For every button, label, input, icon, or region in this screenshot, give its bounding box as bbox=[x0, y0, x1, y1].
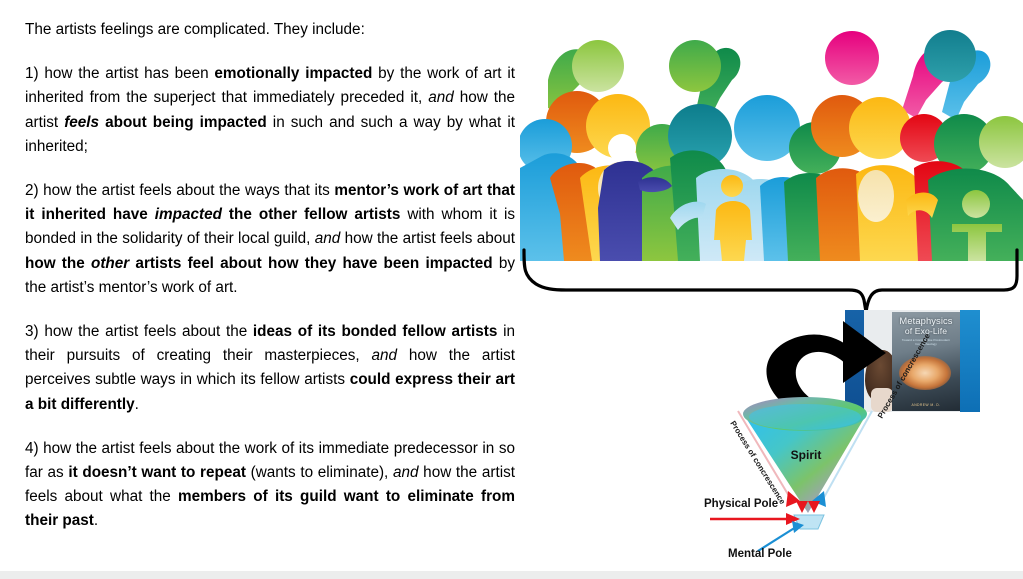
mental-pole-group: Mental Pole bbox=[728, 521, 804, 560]
figure-head bbox=[849, 97, 911, 159]
paragraph-2: 2) how the artist feels about the ways t… bbox=[25, 179, 515, 300]
figure-head bbox=[825, 31, 879, 85]
bottom-strip bbox=[0, 571, 1023, 579]
spirit-label: Spirit bbox=[791, 448, 822, 462]
figure-head bbox=[669, 40, 721, 92]
physical-pole-label: Physical Pole bbox=[704, 498, 778, 510]
right-process-label: Process of concrescence bbox=[876, 331, 932, 420]
figure-head bbox=[572, 40, 624, 92]
mental-pole-label: Mental Pole bbox=[728, 548, 792, 560]
crowd-illustration bbox=[520, 18, 1023, 261]
paragraph-1: 1) how the artist has been emotionally i… bbox=[25, 62, 515, 159]
figure-head bbox=[924, 30, 976, 82]
figure-body bbox=[858, 170, 894, 222]
figure-head bbox=[608, 134, 636, 162]
slide-canvas: The artists feelings are complicated. Th… bbox=[0, 0, 1023, 579]
p2-runs: 2) how the artist feels about the ways t… bbox=[25, 182, 515, 296]
figure-head bbox=[721, 175, 743, 197]
p1-runs: 1) how the artist has been emotionally i… bbox=[25, 65, 515, 155]
figure-head bbox=[962, 190, 990, 218]
paragraph-4: 4) how the artist feels about the work o… bbox=[25, 437, 515, 534]
p4-runs: 4) how the artist feels about the work o… bbox=[25, 440, 515, 530]
p3-runs: 3) how the artist feels about the ideas … bbox=[25, 323, 515, 413]
paragraph-3: 3) how the artist feels about the ideas … bbox=[25, 320, 515, 417]
intro-paragraph: The artists feelings are complicated. Th… bbox=[25, 18, 515, 42]
concrescence-cone-diagram: Process of concrescence Process of concr… bbox=[700, 295, 1023, 560]
physical-pole-group: Physical Pole bbox=[704, 498, 800, 525]
text-column: The artists feelings are complicated. Th… bbox=[25, 18, 515, 534]
